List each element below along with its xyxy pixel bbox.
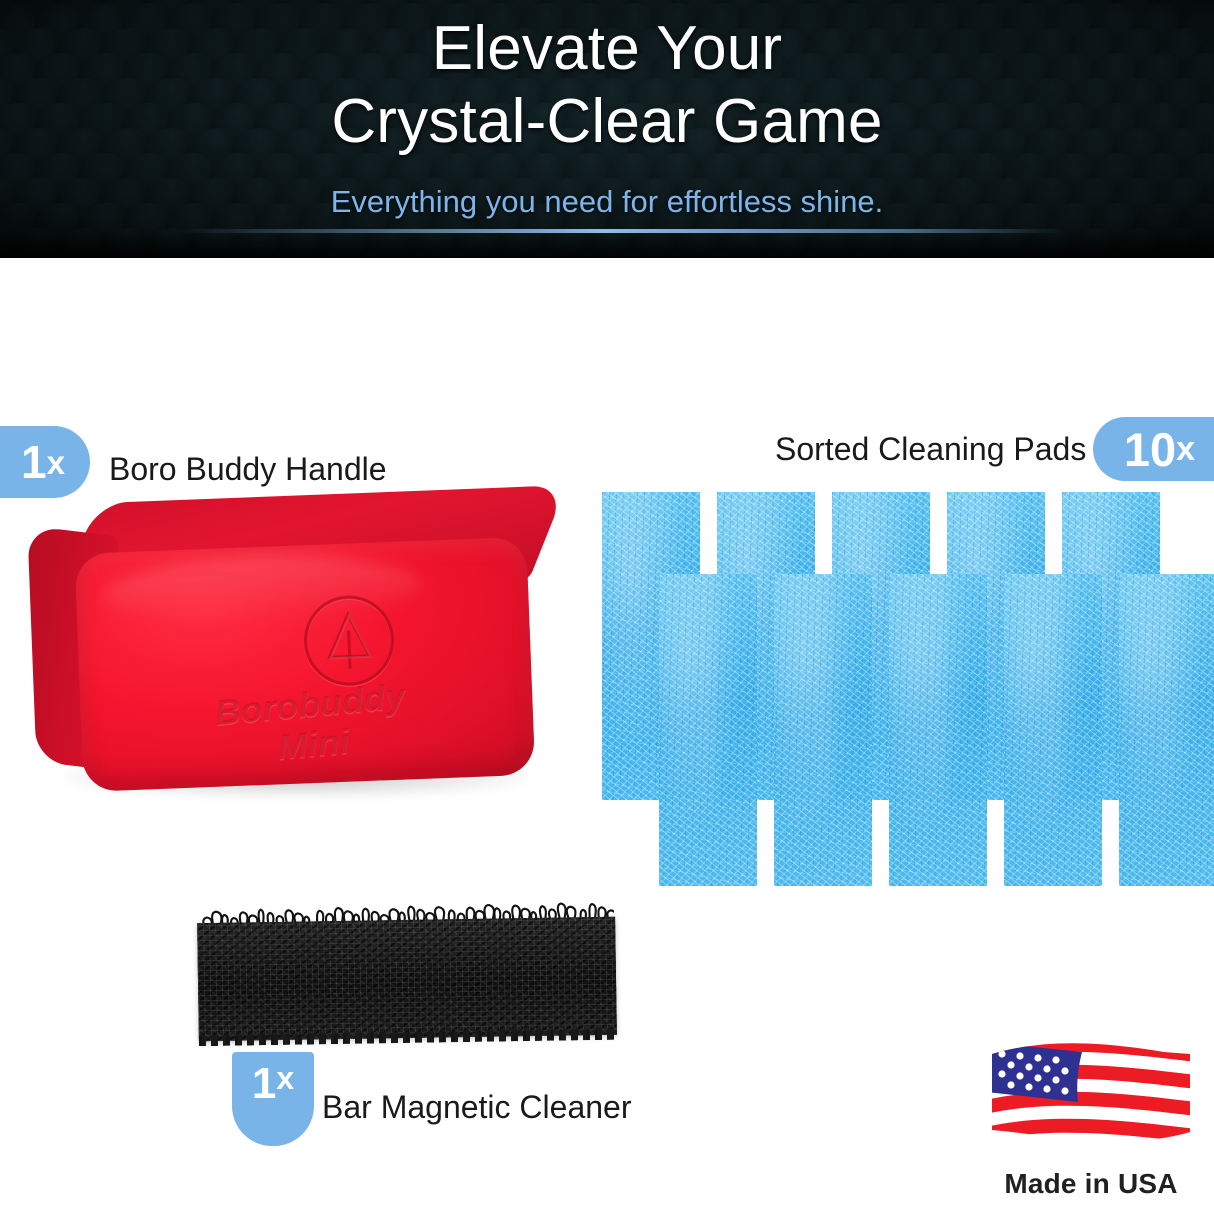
usa-flag-icon: [986, 1040, 1196, 1164]
page-title: Elevate Your Crystal-Clear Game: [0, 12, 1214, 158]
product-bar-magnetic-cleaner: [192, 898, 624, 1058]
made-in-usa-badge: Made in USA: [986, 1040, 1196, 1202]
header-banner: Elevate Your Crystal-Clear Game Everythi…: [0, 0, 1214, 258]
handle-emboss-text: Borobuddy Mini: [174, 673, 450, 777]
cleaning-pad: [1119, 574, 1214, 886]
item-label-bar: Bar Magnetic Cleaner: [322, 1088, 631, 1126]
qty-badge-pads: 10x: [1093, 417, 1214, 481]
product-cleaning-pads: [602, 492, 1202, 892]
qty-badge-handle-number: 1: [21, 439, 47, 485]
cleaning-pad: [774, 574, 872, 886]
infographic-page: Elevate Your Crystal-Clear Game Everythi…: [0, 0, 1214, 1214]
cleaning-pad: [889, 574, 987, 886]
qty-badge-handle-suffix: x: [47, 446, 65, 479]
page-subtitle: Everything you need for effortless shine…: [0, 183, 1214, 221]
cleaning-pad: [1004, 574, 1102, 886]
header-divider: [180, 229, 1060, 233]
item-label-pads: Sorted Cleaning Pads: [775, 430, 1086, 468]
handle-body: Borobuddy Mini: [27, 486, 546, 797]
bar-body: [197, 917, 617, 1042]
qty-badge-pads-suffix: x: [1176, 432, 1195, 466]
borobuddy-logo-icon: [302, 594, 395, 687]
product-boro-buddy-handle: Borobuddy Mini: [24, 486, 584, 826]
qty-badge-bar: 1x: [232, 1052, 314, 1146]
qty-badge-bar-number: 1: [252, 1062, 276, 1106]
handle-front-face: Borobuddy Mini: [74, 537, 535, 792]
item-label-handle: Boro Buddy Handle: [109, 450, 387, 488]
cleaning-pad: [659, 574, 757, 886]
made-in-usa-text: Made in USA: [986, 1168, 1196, 1200]
qty-badge-pads-number: 10: [1124, 426, 1176, 473]
qty-badge-bar-suffix: x: [276, 1062, 294, 1094]
logo-triangle-arrow-icon: [305, 597, 392, 684]
